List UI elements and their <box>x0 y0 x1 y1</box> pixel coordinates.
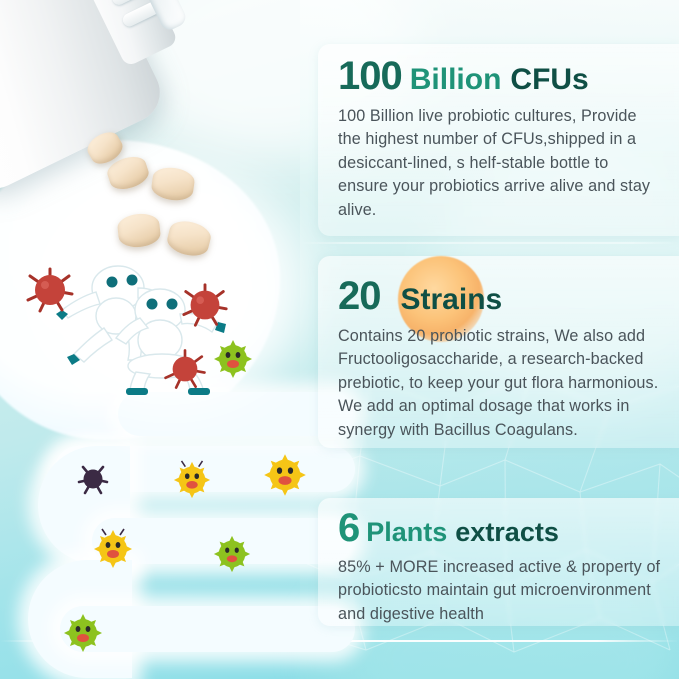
microbe-dark-1 <box>76 462 110 501</box>
heading-cfu-number: 100 <box>338 54 402 98</box>
intestine-ribbon-3 <box>60 606 355 652</box>
bottle-label-line-2: BIO <box>0 0 14 30</box>
microbe-yellow-2 <box>262 452 308 503</box>
heading-plants-word-2: extracts <box>455 517 559 547</box>
microbe-yellow-1 <box>172 460 212 505</box>
probiotic-illustration: BIO MEN'S KFG <box>0 0 340 679</box>
heading-cfu-word-2: CFUs <box>510 63 588 96</box>
body-plants: 85% + MORE increased active & property o… <box>338 556 668 626</box>
heading-cfu: 100BillionCFUs <box>338 56 679 96</box>
heading-cfu-word-1: Billion <box>410 63 502 96</box>
feature-block-strains: 20Strains Contains 20 probiotic strains,… <box>338 276 679 442</box>
infographic-canvas: BIO MEN'S KFG <box>0 0 679 679</box>
virus-character-1 <box>24 264 76 321</box>
feature-block-cfu: 100BillionCFUs 100 Billion live probioti… <box>338 56 679 222</box>
microbe-green-1 <box>212 338 254 385</box>
virus-character-3 <box>162 346 208 397</box>
microbe-yellow-3 <box>92 528 134 575</box>
body-strains: Contains 20 probiotic strains, We also a… <box>338 325 668 442</box>
heading-plants-word-1: Plants <box>366 517 447 547</box>
microbe-green-2 <box>212 534 252 579</box>
feature-block-plants: 6Plantsextracts 85% + MORE increased act… <box>338 508 679 626</box>
body-cfu: 100 Billion live probiotic cultures, Pro… <box>338 105 660 222</box>
heading-strains: 20Strains <box>338 276 679 316</box>
heading-plants: 6Plantsextracts <box>338 508 679 548</box>
virus-character-2 <box>180 280 230 335</box>
heading-strains-word-1: Strains <box>401 283 503 316</box>
microbe-green-3 <box>62 612 104 659</box>
heading-strains-number: 20 <box>338 274 381 318</box>
heading-plants-number: 6 <box>338 506 359 550</box>
bottle-label: BIO MEN'S <box>0 0 14 30</box>
bottle-label-line-1: MEN'S <box>0 0 2 7</box>
divider-line-upper <box>300 242 679 244</box>
